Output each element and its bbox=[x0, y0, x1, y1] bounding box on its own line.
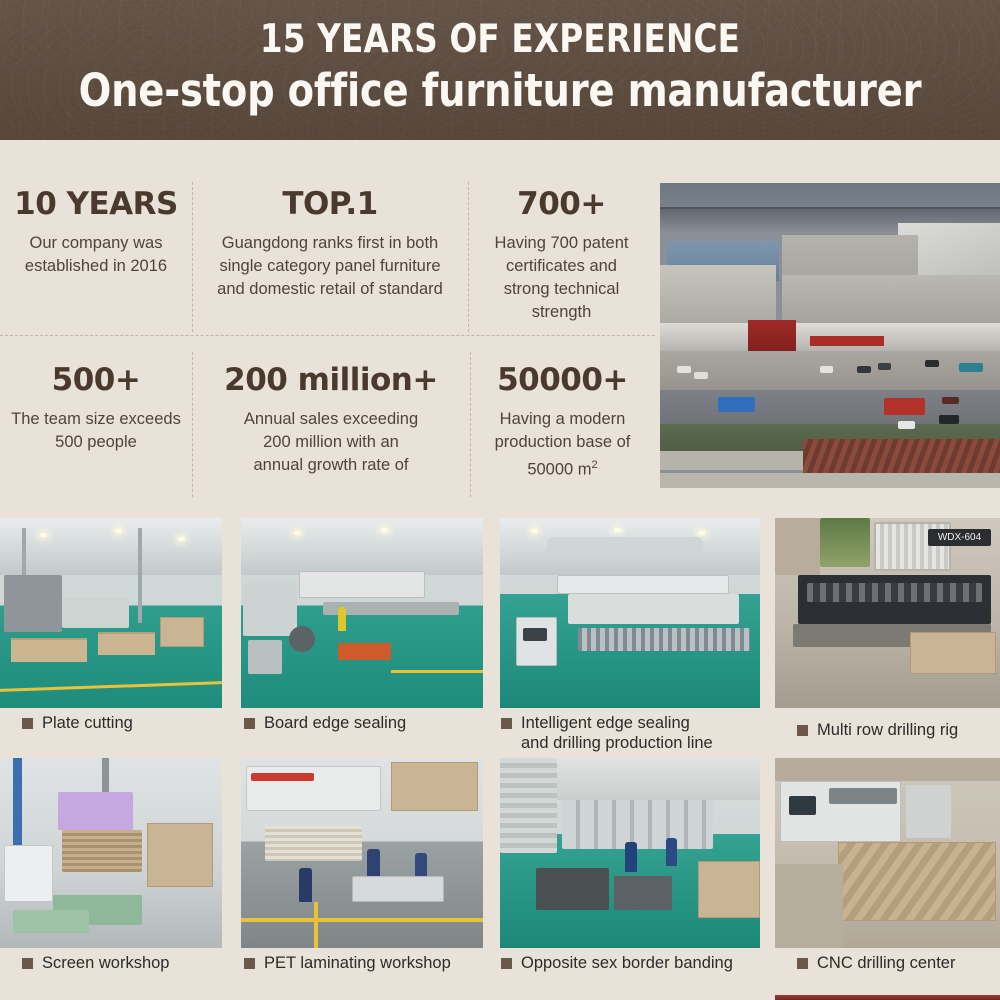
ceiling-lamp-icon bbox=[698, 531, 705, 535]
control-panel bbox=[516, 617, 558, 666]
pallet-truck bbox=[338, 643, 391, 660]
caption-bullet-icon bbox=[501, 958, 512, 969]
wood-panel-stack bbox=[910, 632, 996, 674]
floor-marking bbox=[391, 670, 483, 673]
stat-top1-description: Guangdong ranks first in both single cat… bbox=[200, 232, 460, 301]
stat-area-superscript: 2 bbox=[592, 459, 598, 471]
caption-text: Screen workshop bbox=[42, 953, 169, 973]
floor-marking bbox=[314, 902, 318, 948]
caption-text: Plate cutting bbox=[42, 713, 133, 733]
caption-text: PET laminating workshop bbox=[264, 953, 451, 973]
aerial-car-dark-3 bbox=[857, 366, 871, 373]
aerial-car-dark-1 bbox=[939, 415, 959, 424]
aerial-tiled-roof bbox=[803, 439, 1000, 476]
worker-figure bbox=[625, 842, 637, 872]
header-headline: 15 YEARS OF EXPERIENCE bbox=[35, 17, 965, 62]
caption-screen-workshop: Screen workshop bbox=[22, 953, 222, 973]
cutting-machine bbox=[4, 575, 62, 632]
worker-figure bbox=[338, 607, 346, 631]
rig-spindle-row bbox=[807, 583, 983, 602]
caption-board-edge-sealing: Board edge sealing bbox=[244, 713, 484, 733]
caption-multi-row-drilling-rig: Multi row drilling rig bbox=[797, 720, 997, 740]
machine-model-label: WDX-604 bbox=[938, 532, 981, 543]
caption-text: CNC drilling center bbox=[817, 953, 955, 973]
floor-marking bbox=[241, 918, 483, 922]
wall-structure bbox=[500, 758, 557, 853]
caption-text: Intelligent edge sealing and drilling pr… bbox=[521, 713, 713, 753]
aerial-roof-wide bbox=[782, 275, 1000, 330]
stat-sales: 200 million+ Annual sales exceeding 200 … bbox=[192, 362, 470, 477]
cnc-control-screen bbox=[789, 796, 816, 815]
stat-area-description: Having a modern production base of 50000… bbox=[478, 408, 647, 482]
panel-stack bbox=[98, 632, 156, 655]
caption-bullet-icon bbox=[797, 725, 808, 736]
aerial-boundary-wall bbox=[660, 451, 816, 469]
page-header: 15 YEARS OF EXPERIENCE One-stop office f… bbox=[0, 0, 1000, 140]
ceiling-lamp-icon bbox=[40, 533, 47, 537]
caption-text: Multi row drilling rig bbox=[817, 720, 958, 740]
carton-box bbox=[160, 617, 204, 647]
control-box bbox=[248, 640, 282, 674]
aerial-car-white-1 bbox=[898, 421, 915, 429]
photo-cnc-drilling-center bbox=[775, 758, 1000, 948]
photo-ceiling bbox=[0, 518, 222, 575]
stat-patents-description: Having 700 patent certificates and stron… bbox=[476, 232, 647, 324]
stat-years-description: Our company was established in 2016 bbox=[8, 232, 184, 278]
aerial-red-signboard bbox=[810, 336, 885, 347]
aerial-car-dark-5 bbox=[925, 360, 939, 367]
production-line-body bbox=[568, 594, 740, 624]
stat-top1: TOP.1 Guangdong ranks first in both sing… bbox=[192, 186, 468, 301]
ceiling-beam bbox=[775, 758, 1000, 781]
photo-opposite-sex-border-banding bbox=[500, 758, 760, 948]
photo-board-edge-sealing bbox=[241, 518, 483, 708]
stat-years-number: 10 YEARS bbox=[8, 186, 184, 222]
stat-top1-number: TOP.1 bbox=[200, 186, 460, 222]
worker-figure bbox=[299, 868, 312, 902]
purple-wrapped-stack bbox=[58, 792, 133, 830]
white-panel bbox=[4, 845, 53, 902]
stat-area: 50000+ Having a modern production base o… bbox=[470, 362, 655, 482]
photo-intelligent-edge-sealing bbox=[500, 518, 760, 708]
caption-bullet-icon bbox=[244, 958, 255, 969]
stat-team: 500+ The team size exceeds 500 people bbox=[0, 362, 192, 454]
edge-banding-machine bbox=[299, 571, 425, 598]
aerial-car-dark-4 bbox=[878, 363, 892, 370]
overhead-duct bbox=[547, 537, 703, 556]
stats-divider-horizontal bbox=[0, 335, 655, 336]
machine-label-plate: WDX-604 bbox=[928, 529, 991, 546]
wood-panel-stack bbox=[698, 861, 760, 918]
panel-stack bbox=[11, 638, 86, 663]
stat-years: 10 YEARS Our company was established in … bbox=[0, 186, 192, 278]
next-section-peek bbox=[775, 995, 1000, 1000]
aerial-car-dark-2 bbox=[942, 397, 959, 405]
structural-column bbox=[138, 528, 142, 623]
caption-bullet-icon bbox=[501, 718, 512, 729]
wall-panel bbox=[775, 518, 820, 575]
carton-stack bbox=[391, 762, 478, 811]
photo-multi-row-drilling-rig: WDX-604 bbox=[775, 518, 1000, 708]
machine-side-unit bbox=[906, 785, 951, 838]
screen-panel-stack bbox=[62, 830, 142, 872]
aerial-factory-photo bbox=[660, 183, 1000, 488]
stats-panel: 10 YEARS Our company was established in … bbox=[0, 140, 655, 510]
caption-text: Opposite sex border banding bbox=[521, 953, 733, 973]
ceiling-lamp-icon bbox=[178, 537, 185, 541]
caption-plate-cutting: Plate cutting bbox=[22, 713, 222, 733]
stat-team-number: 500+ bbox=[8, 362, 184, 398]
header-subheadline: One-stop office furniture manufacturer bbox=[25, 64, 975, 117]
photo-pet-laminating-workshop bbox=[241, 758, 483, 948]
stat-patents-number: 700+ bbox=[476, 186, 647, 222]
control-screen bbox=[523, 628, 546, 641]
photo-plate-cutting bbox=[0, 518, 222, 708]
carton-box bbox=[147, 823, 214, 888]
panel-stack bbox=[265, 826, 362, 860]
herringbone-panel-stack bbox=[838, 842, 996, 922]
panel-stack-dark bbox=[536, 868, 609, 910]
caption-bullet-icon bbox=[244, 718, 255, 729]
caption-pet-laminating-workshop: PET laminating workshop bbox=[244, 953, 484, 973]
caption-cnc-drilling-center: CNC drilling center bbox=[797, 953, 997, 973]
stat-area-number: 50000+ bbox=[478, 362, 647, 398]
roller-conveyor bbox=[578, 628, 750, 651]
green-panel-stack bbox=[13, 910, 88, 933]
machine-red-stripe bbox=[251, 773, 314, 781]
caption-opposite-sex-border-banding: Opposite sex border banding bbox=[501, 953, 751, 973]
aerial-car-white-4 bbox=[820, 366, 834, 373]
floor-area bbox=[775, 864, 843, 948]
aerial-bottom-bar bbox=[660, 473, 1000, 488]
ceiling-lamp-icon bbox=[614, 528, 621, 532]
caption-intelligent-edge-sealing: Intelligent edge sealing and drilling pr… bbox=[501, 713, 751, 753]
machine-cabinet bbox=[243, 583, 296, 636]
panel-stack-dark bbox=[614, 876, 671, 910]
caption-bullet-icon bbox=[797, 958, 808, 969]
photo-screen-workshop bbox=[0, 758, 222, 948]
aerial-truck-red bbox=[884, 398, 925, 415]
aerial-car-white-3 bbox=[694, 372, 708, 379]
ceiling-lamp-icon bbox=[381, 528, 388, 532]
aerial-car-white-2 bbox=[677, 366, 691, 373]
floor-marking bbox=[0, 681, 222, 692]
aerial-truck-blue bbox=[718, 397, 755, 412]
stat-patents: 700+ Having 700 patent certificates and … bbox=[468, 186, 655, 324]
caption-bullet-icon bbox=[22, 718, 33, 729]
stacked-panels bbox=[62, 598, 129, 628]
stat-team-description: The team size exceeds 500 people bbox=[8, 408, 184, 454]
work-table bbox=[352, 876, 444, 903]
photo-ceiling bbox=[241, 518, 483, 575]
caption-text: Board edge sealing bbox=[264, 713, 406, 733]
aerial-container-teal bbox=[959, 363, 983, 372]
machine-row bbox=[562, 800, 713, 849]
foliage bbox=[820, 518, 870, 567]
cnc-gantry bbox=[829, 788, 897, 803]
stat-sales-number: 200 million+ bbox=[200, 362, 462, 398]
worker-figure bbox=[666, 838, 677, 866]
pedestal-fan bbox=[289, 626, 315, 652]
stat-sales-description: Annual sales exceeding 200 million with … bbox=[200, 408, 462, 477]
stat-area-description-text: Having a modern production base of 50000… bbox=[495, 410, 631, 479]
gantry-frame bbox=[557, 575, 729, 594]
caption-bullet-icon bbox=[22, 958, 33, 969]
